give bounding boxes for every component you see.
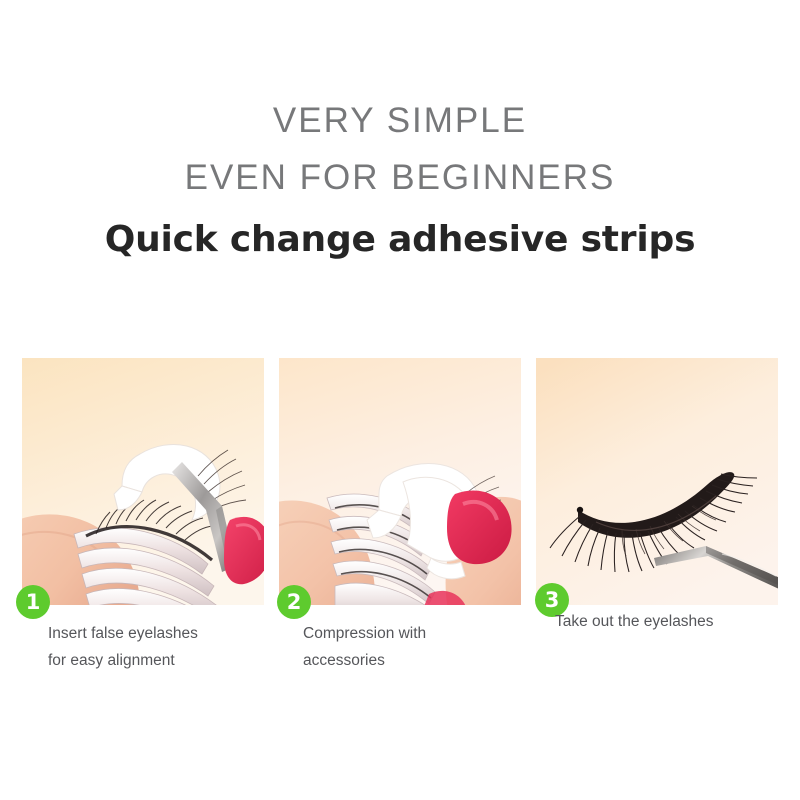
step-2-number-badge: 2 [277,585,311,619]
step-2-caption-line-1: Compression with [303,620,426,647]
step-3-caption-line-1: Take out the eyelashes [555,608,714,635]
headline-line-2: EVEN FOR BEGINNERS [0,160,800,195]
step-1-number-badge: 1 [16,585,50,619]
step-1-caption-line-2: for easy alignment [48,647,198,674]
step-2-caption-line-2: accessories [303,647,426,674]
step-3-photo [536,358,778,605]
step-1-photo [22,358,264,605]
page-title: Quick change adhesive strips [0,222,800,258]
step-1-caption: Insert false eyelashes for easy alignmen… [48,620,198,674]
step-2-photo [279,358,521,605]
step-1-caption-line-1: Insert false eyelashes [48,620,198,647]
headline-line-1: VERY SIMPLE [0,103,800,138]
steps-row: 1 Insert false eyelashes for easy alignm… [22,358,783,678]
step-3-caption: Take out the eyelashes [555,608,714,635]
step-1: 1 Insert false eyelashes for easy alignm… [22,358,264,605]
step-3: 3 Take out the eyelashes [536,358,778,605]
step-2: 2 Compression with accessories [279,358,521,605]
step-2-caption: Compression with accessories [303,620,426,674]
